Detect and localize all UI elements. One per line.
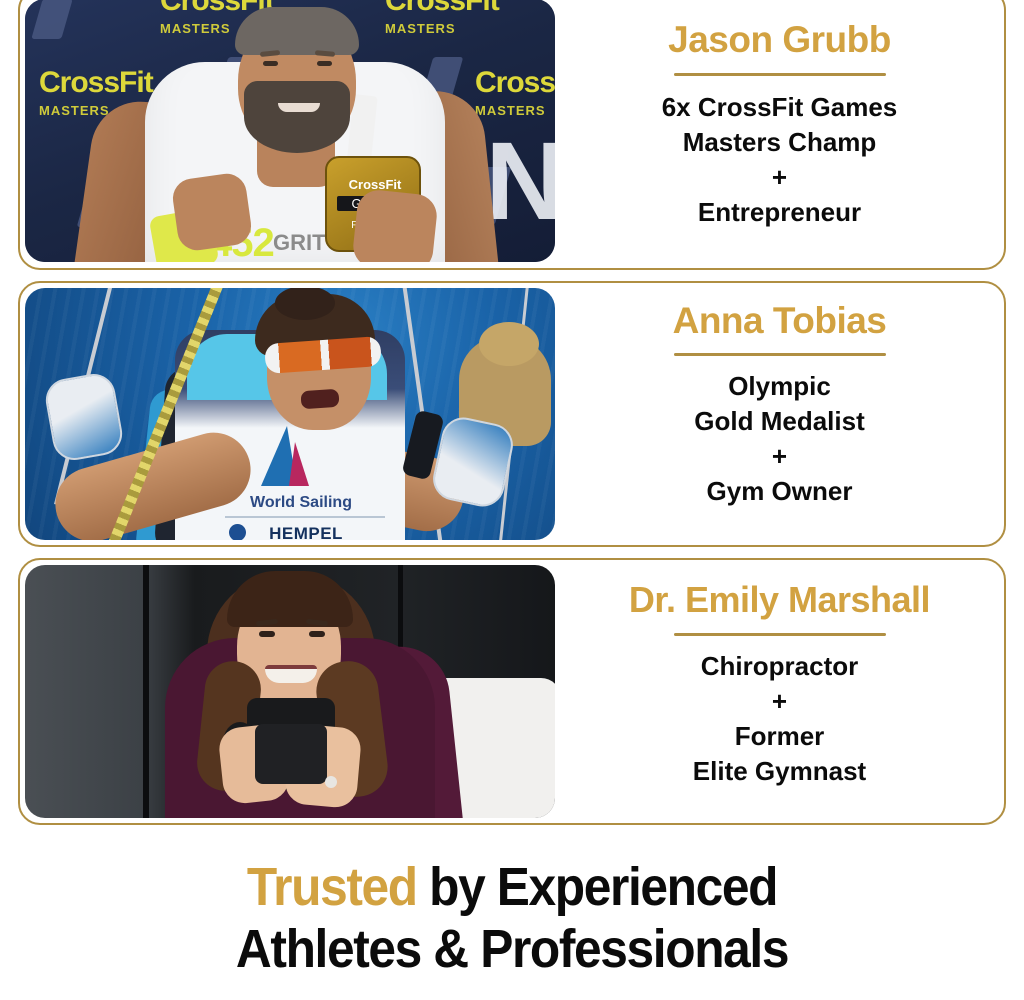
eye [259,631,275,637]
smile [265,665,317,683]
bib-divider [225,516,385,518]
headline-accent-word: Trusted [247,857,417,917]
athlete-hair [235,7,359,55]
athlete-photo [25,565,555,818]
athlete-eye [263,61,278,66]
athlete-credentials: Chiropractor + Former Elite Gymnast [693,649,866,789]
backdrop-logo: CrossFit MASTERS [385,0,499,43]
photo-jason-grubb: CrossFit MASTERS CrossFit MASTERS CrossF… [25,0,555,262]
world-sailing-logo-icon [289,442,309,486]
athlete-name: Dr. Emily Marshall [629,578,930,622]
headline-line-1-rest: by Experienced [417,857,777,917]
name-divider [674,73,886,76]
testimonial-card[interactable]: Dr. Emily Marshall Chiropractor + Former… [18,558,1006,825]
bib-sponsor-text: World Sailing [231,494,371,512]
athlete-photo: CrossFit MASTERS CrossFit MASTERS CrossF… [25,0,555,262]
page-headline: Trusted by Experienced Athletes & Profes… [41,856,983,980]
wall-panel-edge [143,565,149,818]
athlete-name: Jason Grubb [668,18,891,62]
athlete-smile [278,103,320,112]
mug-front [255,724,327,784]
athlete-credentials: Olympic Gold Medalist + Gym Owner [694,369,864,509]
backdrop-sublogo-text: MASTERS [385,15,499,43]
sailor-mouth [300,389,339,410]
athlete-info: Jason Grubb 6x CrossFit Games Masters Ch… [555,0,1004,268]
eye [309,631,325,637]
headline-line-2: Athletes & Professionals [41,918,983,980]
athlete-fist [170,171,253,253]
bib-sponsor-text-2: HEMPEL [231,524,381,540]
second-sailor-bun [479,322,539,366]
athlete-eye [317,61,332,66]
backdrop-logo-text: CrossFit [475,66,555,99]
athlete-photo: World Sailing HEMPEL [25,288,555,540]
testimonial-card[interactable]: World Sailing HEMPEL [18,281,1006,547]
backdrop-logo: CrossFit MASTERS [475,69,555,125]
athlete-hand [351,188,439,262]
bib-text: GRIT [273,230,326,256]
headline-line-1: Trusted by Experienced [41,856,983,918]
athlete-info: Anna Tobias Olympic Gold Medalist + Gym … [555,283,1004,545]
name-divider [674,633,886,636]
athlete-info: Dr. Emily Marshall Chiropractor + Former… [555,560,1004,823]
photo-emily-marshall [25,565,555,818]
testimonial-page: CrossFit MASTERS CrossFit MASTERS CrossF… [0,0,1024,1000]
backdrop-letter: N [486,132,555,232]
photo-anna-tobias: World Sailing HEMPEL [25,288,555,540]
athlete-beard [244,81,350,153]
testimonial-card[interactable]: CrossFit MASTERS CrossFit MASTERS CrossF… [18,0,1006,270]
backdrop-logo-text: CrossFit [39,66,153,99]
athlete-credentials: 6x CrossFit Games Masters Champ + Entrep… [662,90,898,230]
name-divider [674,353,886,356]
athlete-name: Anna Tobias [673,299,887,343]
ring [325,776,337,788]
